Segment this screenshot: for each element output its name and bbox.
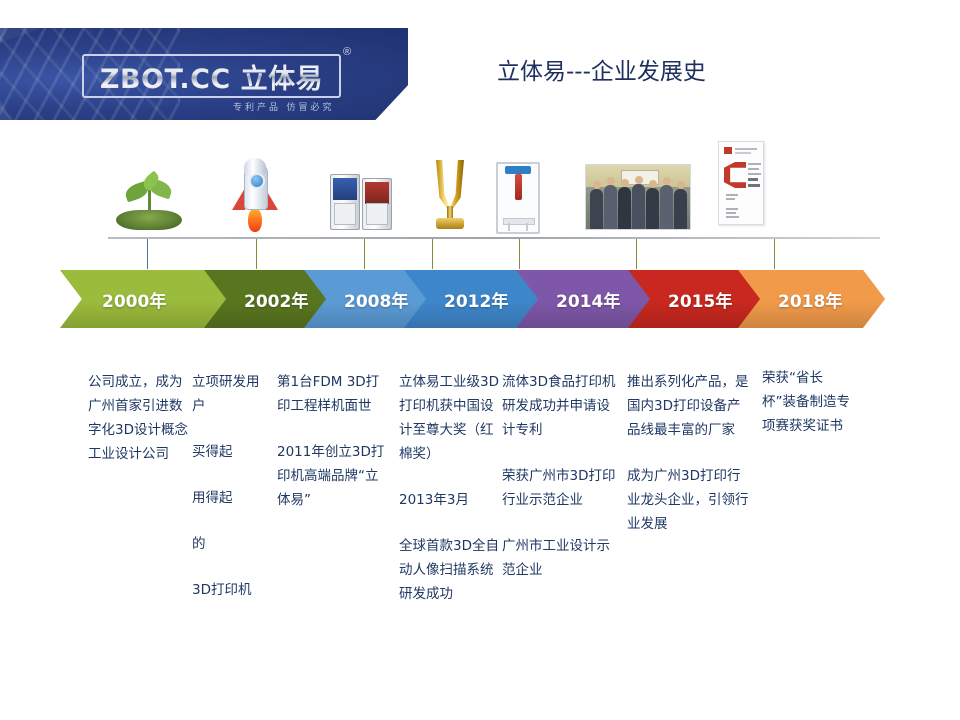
timeline-chevron-label: 2000年 bbox=[102, 287, 166, 312]
trophy-icon bbox=[430, 160, 470, 234]
milestone-text-2014: 流体3D食品打印机研发成功并申请设计专利荣获广州市3D打印行业示范企业广州市工业… bbox=[502, 370, 618, 582]
timeline-chevron-band: 2000年2002年2008年2012年2014年2015年2018年 bbox=[60, 270, 885, 328]
timeline-chevron-label: 2008年 bbox=[344, 287, 408, 312]
milestone-image-2012 bbox=[430, 160, 470, 234]
milestone-text-2015: 推出系列化产品，是国内3D打印设备产品线最丰富的厂家成为广州3D打印行业龙头企业… bbox=[627, 370, 751, 536]
certificate-icon bbox=[718, 141, 764, 225]
timeline-chevron-label: 2002年 bbox=[244, 287, 308, 312]
milestone-paragraph: 立体易工业级3D打印机获中国设计至尊大奖（红棉奖） bbox=[399, 370, 499, 466]
group-photo-icon bbox=[585, 164, 691, 230]
axis-tick bbox=[774, 239, 775, 269]
timeline-axis bbox=[108, 237, 880, 239]
logo-text: ZBOT.CC 立体易 bbox=[100, 57, 323, 96]
rocket-icon bbox=[229, 160, 281, 232]
milestone-paragraph: 的 bbox=[192, 532, 272, 556]
milestone-image-2015 bbox=[585, 166, 691, 230]
milestone-paragraph: 2011年创立3D打印机高端品牌“立体易” bbox=[277, 440, 389, 512]
milestone-paragraph: 荣获广州市3D打印行业示范企业 bbox=[502, 464, 618, 512]
axis-tick bbox=[432, 239, 433, 269]
timeline-chevron-2000年[interactable]: 2000年 bbox=[60, 270, 226, 328]
axis-tick bbox=[256, 239, 257, 269]
milestone-image-2002 bbox=[229, 160, 281, 232]
milestone-paragraph: 3D打印机 bbox=[192, 578, 272, 602]
header-banner: ZBOT.CC 立体易 ® 专利产品 仿冒必究 bbox=[0, 28, 408, 120]
milestone-text-2000: 公司成立，成为广州首家引进数字化3D设计概念工业设计公司 bbox=[88, 370, 188, 466]
printer-pair-icon bbox=[330, 170, 396, 232]
timeline-chevron-label: 2014年 bbox=[556, 287, 620, 312]
food-printer-icon bbox=[496, 162, 540, 234]
milestone-paragraph: 推出系列化产品，是国内3D打印设备产品线最丰富的厂家 bbox=[627, 370, 751, 442]
page-title: 立体易---企业发展史 bbox=[497, 52, 706, 86]
milestone-paragraph: 公司成立，成为广州首家引进数字化3D设计概念工业设计公司 bbox=[88, 370, 188, 466]
logo-tagline: 专利产品 仿冒必究 bbox=[233, 100, 335, 113]
milestone-image-2000 bbox=[112, 168, 186, 230]
milestone-paragraph: 第1台FDM 3D打印工程样机面世 bbox=[277, 370, 389, 418]
milestone-text-2002: 立项研发用户买得起用得起的3D打印机 bbox=[192, 370, 272, 602]
milestone-image-2018 bbox=[718, 143, 764, 225]
milestone-paragraph: 2013年3月 bbox=[399, 488, 499, 512]
milestone-paragraph: 全球首款3D全自动人像扫描系统研发成功 bbox=[399, 534, 499, 606]
axis-tick bbox=[519, 239, 520, 269]
company-logo: ZBOT.CC 立体易 bbox=[82, 54, 341, 98]
timeline-chevron-label: 2018年 bbox=[778, 287, 842, 312]
axis-tick bbox=[147, 239, 148, 269]
axis-tick bbox=[364, 239, 365, 269]
milestone-paragraph: 买得起 bbox=[192, 440, 272, 464]
milestone-paragraph: 用得起 bbox=[192, 486, 272, 510]
timeline-chevron-label: 2015年 bbox=[668, 287, 732, 312]
milestone-text-2012: 立体易工业级3D打印机获中国设计至尊大奖（红棉奖）2013年3月全球首款3D全自… bbox=[399, 370, 499, 606]
milestone-image-2014 bbox=[496, 162, 540, 234]
milestone-text-2008: 第1台FDM 3D打印工程样机面世2011年创立3D打印机高端品牌“立体易” bbox=[277, 370, 389, 512]
timeline-chevron-label: 2012年 bbox=[444, 287, 508, 312]
milestone-paragraph: 成为广州3D打印行业龙头企业，引领行业发展 bbox=[627, 464, 751, 536]
milestone-image-2008 bbox=[330, 170, 396, 232]
milestone-paragraph: 广州市工业设计示范企业 bbox=[502, 534, 618, 582]
registered-trademark-icon: ® bbox=[343, 46, 351, 58]
milestone-text-2018: 荣获“省长杯”装备制造专项赛获奖证书 bbox=[762, 366, 854, 438]
milestone-paragraph: 立项研发用户 bbox=[192, 370, 272, 418]
sprout-icon bbox=[112, 168, 186, 230]
axis-tick bbox=[636, 239, 637, 269]
milestone-paragraph: 荣获“省长杯”装备制造专项赛获奖证书 bbox=[762, 366, 854, 438]
milestone-paragraph: 流体3D食品打印机研发成功并申请设计专利 bbox=[502, 370, 618, 442]
